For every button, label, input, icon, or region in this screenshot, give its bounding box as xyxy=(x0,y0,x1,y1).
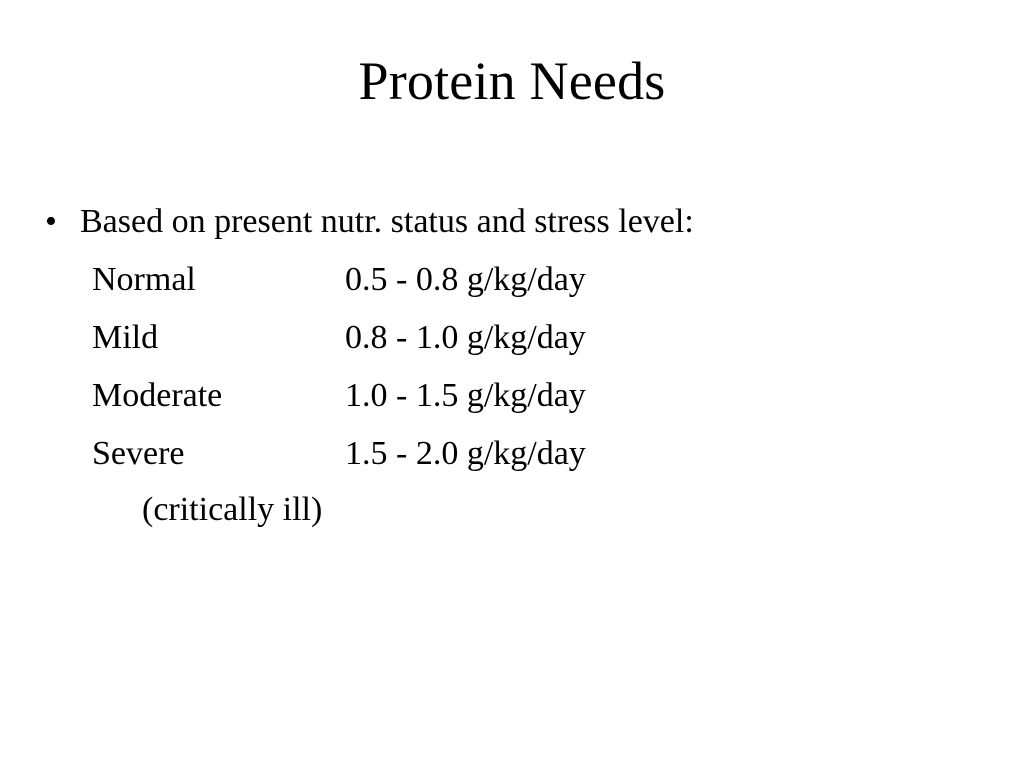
page-title: Protein Needs xyxy=(0,50,1024,112)
protein-needs-table: Normal0.5 - 0.8 g/kg/day Mild0.8 - 1.0 g… xyxy=(0,256,1024,488)
bullet-point-icon: • xyxy=(45,198,65,246)
protein-requirement-value: 0.5 - 0.8 g/kg/day xyxy=(345,256,586,304)
table-row: Normal0.5 - 0.8 g/kg/day xyxy=(0,256,1024,314)
severe-level-note: (critically ill) xyxy=(0,486,1024,534)
stress-level-name: Moderate xyxy=(92,372,345,420)
table-row: Severe1.5 - 2.0 g/kg/day xyxy=(0,430,1024,488)
stress-level-name: Normal xyxy=(92,256,345,304)
stress-level-name: Mild xyxy=(92,314,345,362)
bullet-item-intro-label: Based on present nutr. status and stress… xyxy=(80,198,694,246)
protein-requirement-value: 1.0 - 1.5 g/kg/day xyxy=(345,372,586,420)
slide-body: • Based on present nutr. status and stre… xyxy=(0,198,1024,534)
protein-requirement-value: 1.5 - 2.0 g/kg/day xyxy=(345,430,586,478)
stress-level-name: Severe xyxy=(92,430,345,478)
table-row: Mild0.8 - 1.0 g/kg/day xyxy=(0,314,1024,372)
bullet-item-intro: • Based on present nutr. status and stre… xyxy=(0,198,1024,250)
slide-canvas: Protein Needs • Based on present nutr. s… xyxy=(0,0,1024,768)
table-row: Moderate1.0 - 1.5 g/kg/day xyxy=(0,372,1024,430)
protein-requirement-value: 0.8 - 1.0 g/kg/day xyxy=(345,314,586,362)
